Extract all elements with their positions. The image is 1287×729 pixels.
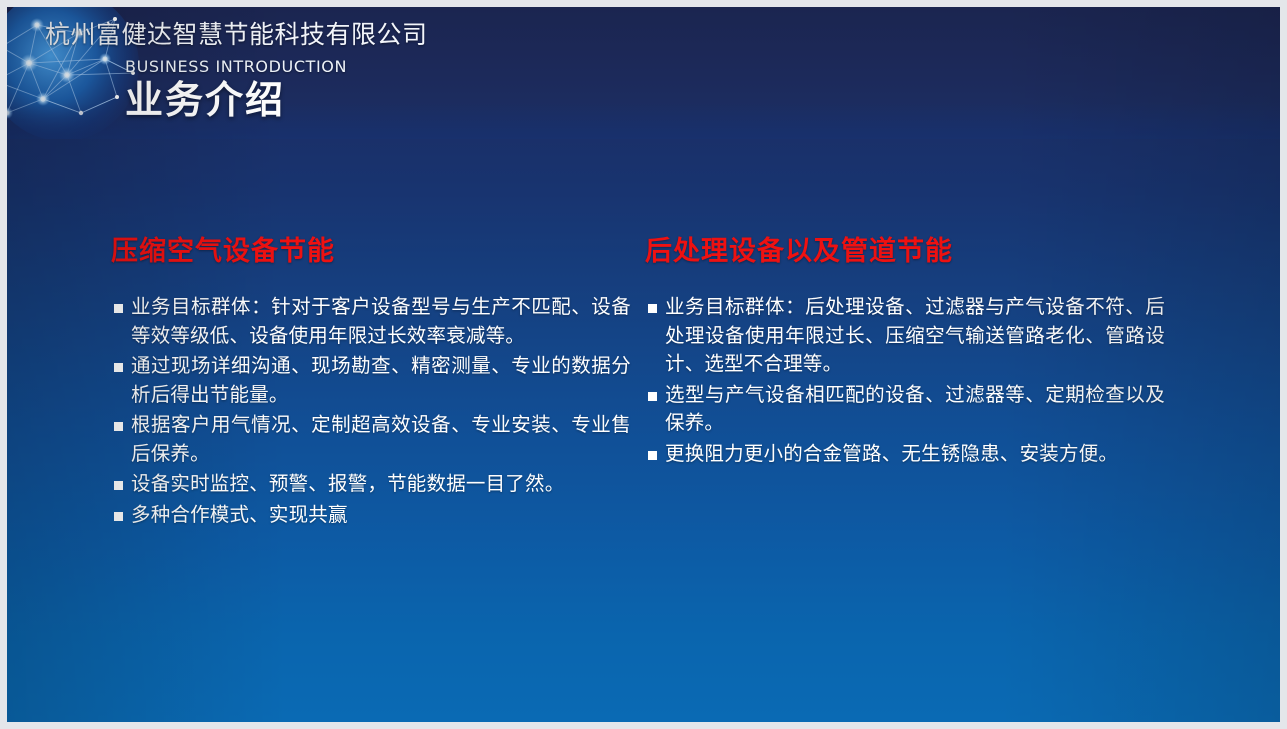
content-columns: 压缩空气设备节能 业务目标群体：针对于客户设备型号与生产不匹配、设备等效等级低、… xyxy=(7,235,1280,565)
list-item: 更换阻力更小的合金管路、无生锈隐患、安装方便。 xyxy=(645,440,1165,469)
section-eyebrow-label: BUSINESS INTRODUCTION xyxy=(125,57,347,77)
page-title: 业务介绍 xyxy=(125,77,285,123)
bullet-list-right: 业务目标群体：后处理设备、过滤器与产气设备不符、后处理设备使用年限过长、压缩空气… xyxy=(645,293,1165,468)
slide-frame: 杭州富健达智慧节能科技有限公司 BUSINESS INTRODUCTION 业务… xyxy=(0,0,1287,729)
column-heading-right: 后处理设备以及管道节能 xyxy=(645,235,1165,269)
list-item: 业务目标群体：针对于客户设备型号与生产不匹配、设备等效等级低、设备使用年限过长效… xyxy=(111,293,631,350)
list-item: 业务目标群体：后处理设备、过滤器与产气设备不符、后处理设备使用年限过长、压缩空气… xyxy=(645,293,1165,379)
list-item: 设备实时监控、预警、报警，节能数据一目了然。 xyxy=(111,470,631,499)
list-item: 选型与产气设备相匹配的设备、过滤器等、定期检查以及保养。 xyxy=(645,381,1165,438)
list-item: 根据客户用气情况、定制超高效设备、专业安装、专业售后保养。 xyxy=(111,411,631,468)
company-name: 杭州富健达智慧节能科技有限公司 xyxy=(45,20,428,50)
list-item: 通过现场详细沟通、现场勘查、精密测量、专业的数据分析后得出节能量。 xyxy=(111,352,631,409)
presentation-slide: 杭州富健达智慧节能科技有限公司 BUSINESS INTRODUCTION 业务… xyxy=(7,7,1280,722)
bullet-list-left: 业务目标群体：针对于客户设备型号与生产不匹配、设备等效等级低、设备使用年限过长效… xyxy=(111,293,631,529)
column-heading-left: 压缩空气设备节能 xyxy=(111,235,631,269)
content-column-right: 后处理设备以及管道节能 业务目标群体：后处理设备、过滤器与产气设备不符、后处理设… xyxy=(645,235,1165,470)
content-column-left: 压缩空气设备节能 业务目标群体：针对于客户设备型号与生产不匹配、设备等效等级低、… xyxy=(111,235,631,531)
list-item: 多种合作模式、实现共赢 xyxy=(111,501,631,530)
